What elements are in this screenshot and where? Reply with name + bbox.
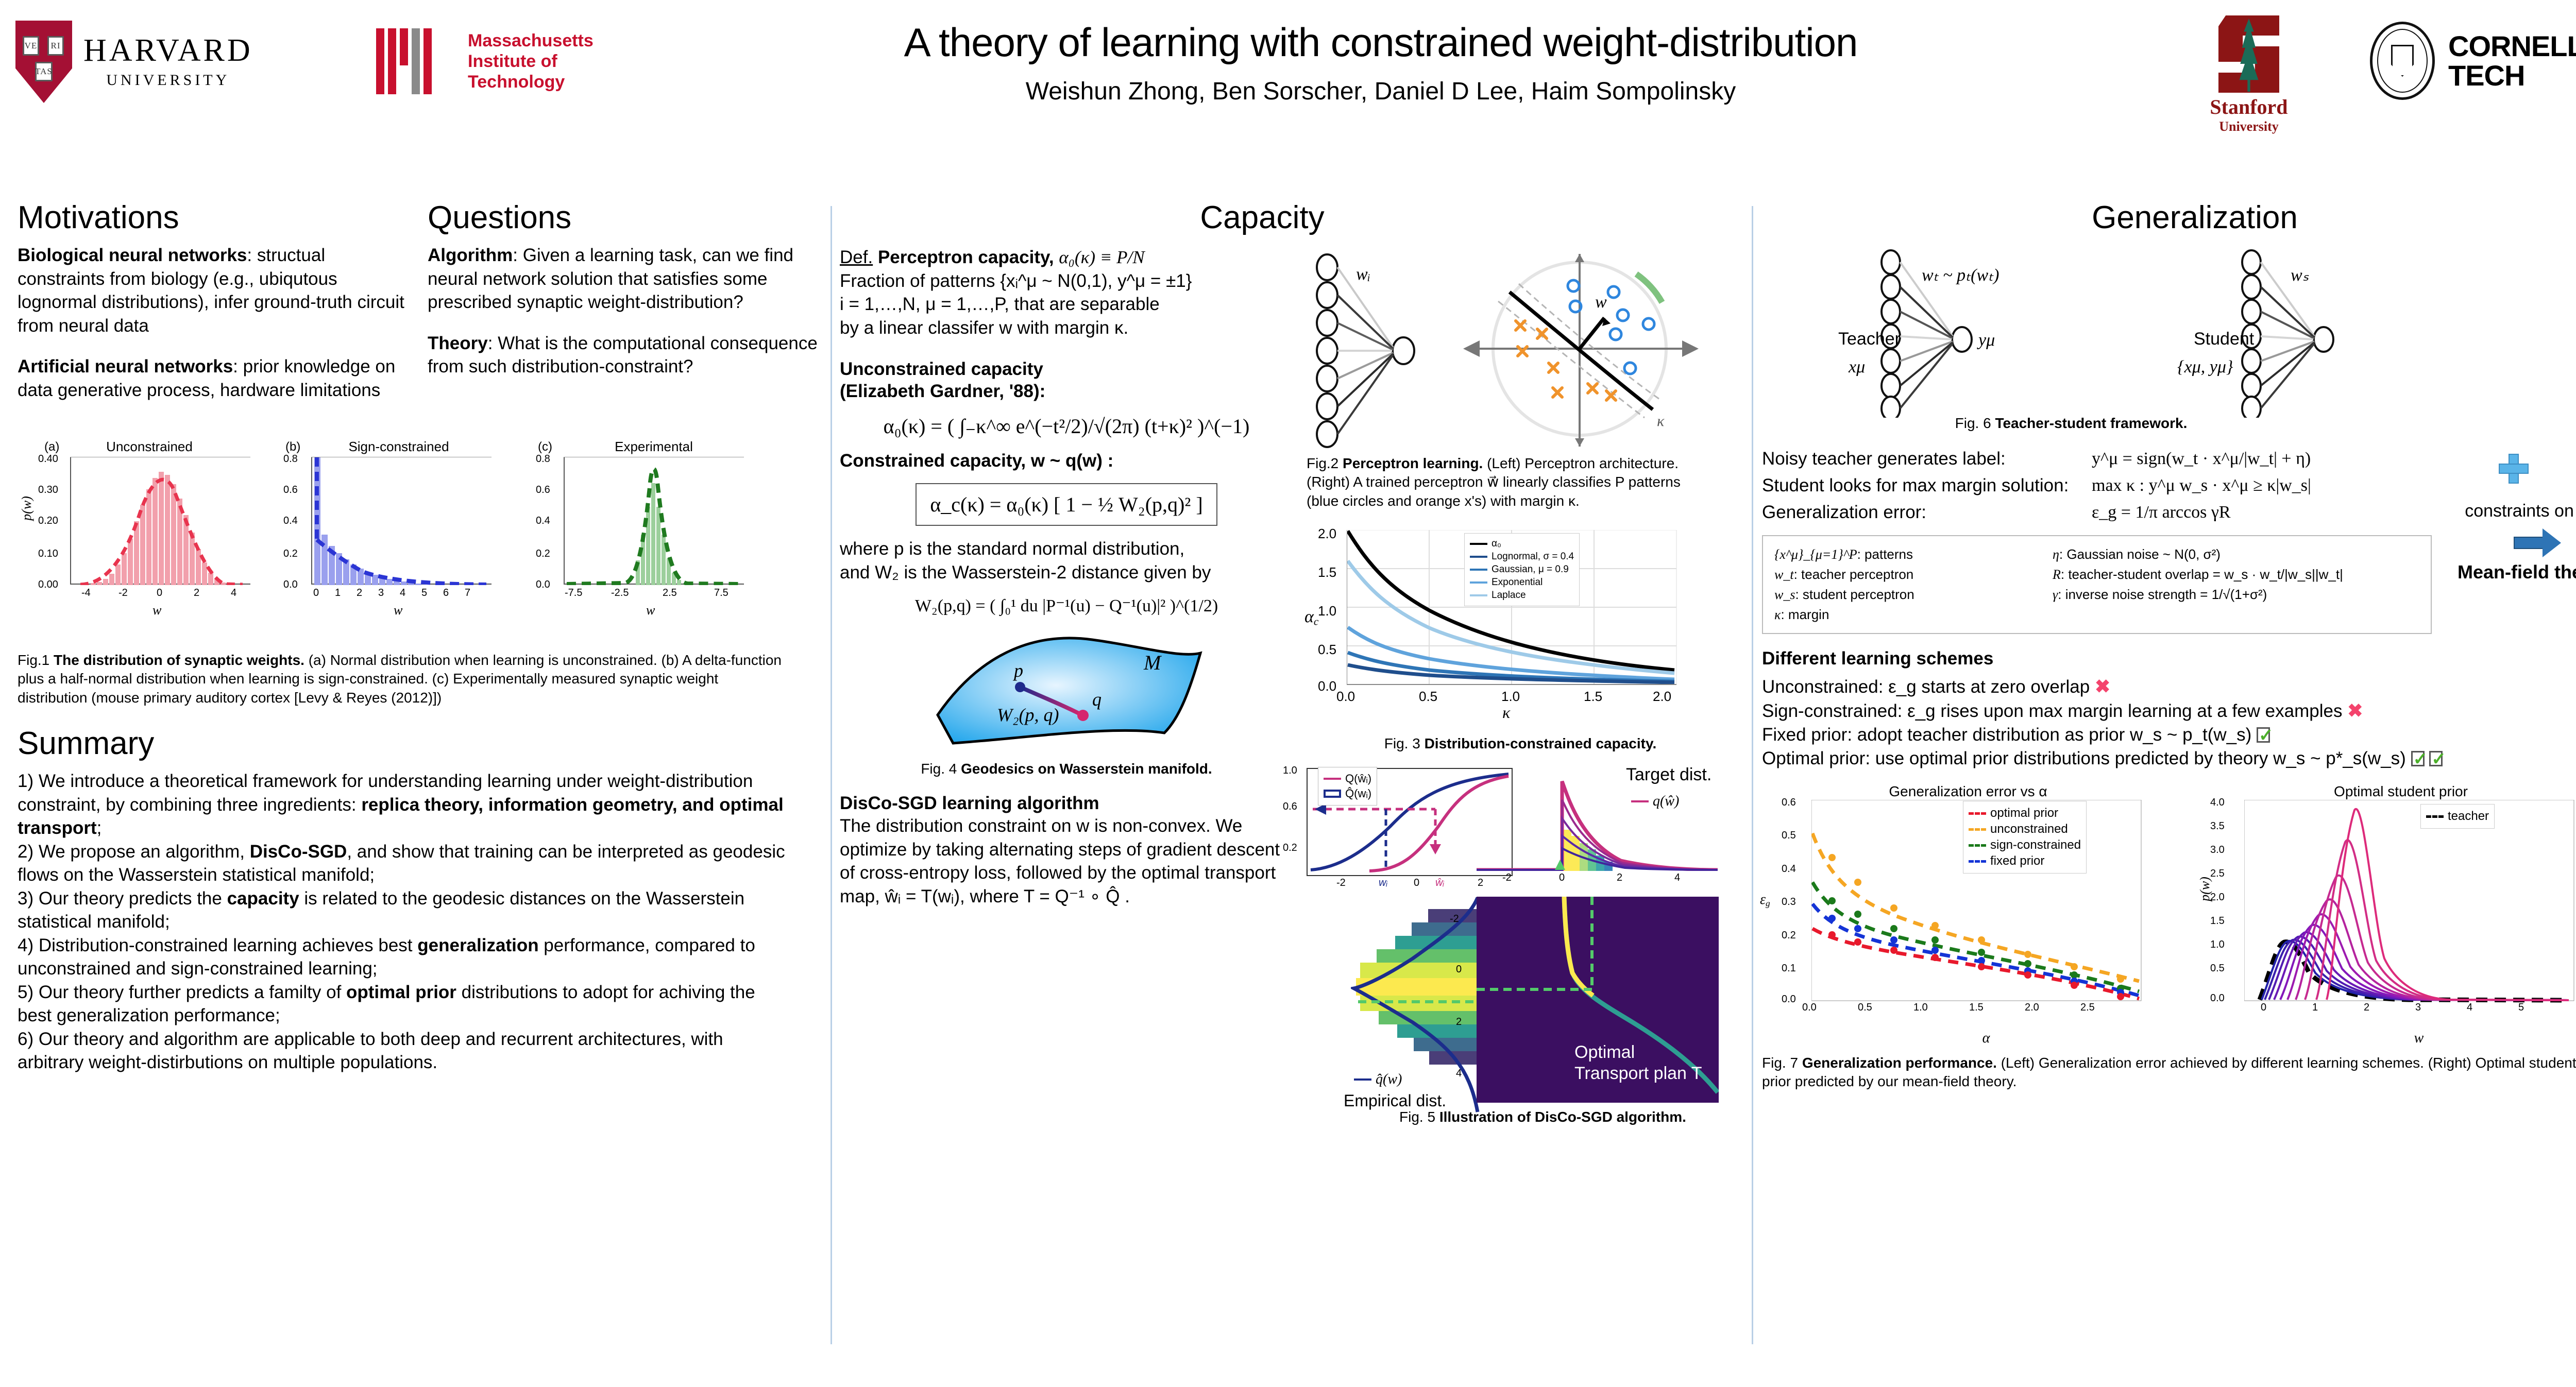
fig1a-ytick: 0.20 — [38, 515, 58, 527]
fig7-legend-item: unconstrained — [1969, 822, 2081, 836]
stanford-wordmark: Stanford — [2195, 95, 2303, 119]
fig7l-ytick: 0.6 — [1782, 797, 1796, 809]
fig6-teacher-output: yμ — [1977, 331, 1995, 350]
fig1-panel-c-tag: (c) — [538, 440, 552, 454]
fig2-graphic: wᵢ — [1307, 246, 1724, 452]
fig7-right-svg — [2244, 800, 2576, 1016]
fig1c-ytick: 0.8 — [536, 453, 550, 465]
capacity-def-line3: i = 1,…,N, μ = 1,…,P, that are separable — [840, 293, 1293, 316]
scheme-row: Fixed prior: adopt teacher distribution … — [1762, 723, 2576, 747]
right-arrow-icon — [2514, 528, 2561, 557]
fig5-side-ytick: 4 — [1456, 1068, 1462, 1080]
fig7r-ytick: 3.5 — [2210, 820, 2225, 832]
fig7r-xtick: 5 — [2518, 1002, 2524, 1014]
capacity-definition: Def. Perceptron capacity, α₀(κ) ≡ P/N — [840, 246, 1293, 269]
fig7-right-xlabel: w — [2231, 1030, 2576, 1047]
fig1-panel-a-tag: (a) — [44, 440, 59, 454]
fig1a-xtick: -4 — [81, 587, 91, 599]
fig3-xtick: 1.0 — [1501, 689, 1520, 705]
fig5-top-xtick: 2 — [1617, 872, 1622, 884]
fig7r-xtick: 4 — [2467, 1002, 2472, 1014]
generalization-heading: Generalization — [1762, 201, 2576, 234]
fig3-legend-item: Gaussian, μ = 0.9 — [1470, 564, 1574, 575]
definition-row: κ: margin — [1774, 605, 2022, 625]
motivations-section: Motivations Biological neural networks: … — [18, 201, 411, 402]
fig1c-ytick: 0.4 — [536, 515, 550, 527]
fig3-ytick: 2.0 — [1318, 526, 1336, 542]
fig1b-ytick: 0.8 — [283, 453, 298, 465]
fig6-teacher-weights: wₜ ~ pₜ(wₜ) — [1922, 266, 1999, 285]
harvard-book-ve: VE — [23, 36, 39, 56]
fig7r-xtick: 3 — [2415, 1002, 2421, 1014]
mean-field-text: Mean-field theory! — [2447, 561, 2576, 583]
fig2-label-wi: wᵢ — [1356, 265, 1370, 284]
summary-item: 3) Our theory predicts the capacity is r… — [18, 887, 790, 934]
constrained-capacity-equation: α_c(κ) = α₀(κ) [ 1 − ½ W₂(p,q)² ] — [916, 483, 1217, 526]
gen-error-label: Generalization error: — [1762, 499, 2092, 526]
check-icon — [2429, 751, 2443, 766]
fig5-target-label: Target dist. — [1626, 765, 1711, 785]
gen-error-equation: ε_g = 1/π arccos γR — [2092, 499, 2432, 526]
fig7l-ytick: 0.1 — [1782, 963, 1796, 974]
fig3-legend-item: Exponential — [1470, 577, 1574, 588]
fig1b-xtick: 1 — [335, 587, 341, 599]
fig7r-ytick: 2.5 — [2210, 868, 2225, 880]
fig3-legend-item: α₀ — [1470, 538, 1574, 550]
fig1-panel-a-plot: 0.40 0.30 0.20 0.10 0.00 -4 -2 0 2 4 w — [70, 457, 250, 585]
fig7r-ytick: 0.5 — [2210, 963, 2225, 974]
questions-heading: Questions — [428, 201, 821, 234]
fig1a-ytick: 0.00 — [38, 579, 58, 591]
learning-schemes-section: Different learning schemes Unconstrained… — [1762, 647, 2576, 770]
page-title: A theory of learning with constrained we… — [685, 21, 2076, 64]
questions-paragraph-1: Algorithm: Given a learning task, can we… — [428, 244, 821, 314]
column-divider-2 — [1752, 206, 1753, 1344]
gardner-equation: α₀(κ) = ( ∫₋κ^∞ e^(−t²/2)/√(2π) (t+κ)² )… — [840, 414, 1293, 438]
definition-row: R: teacher-student overlap = w_s · w_t/|… — [2053, 564, 2419, 585]
max-margin-label: Student looks for max margin solution: — [1762, 472, 2092, 499]
middle-column: Capacity Def. Perceptron capacity, α₀(κ)… — [840, 201, 1747, 1128]
definition-row: {x^μ}_{μ=1}^P: patterns — [1774, 544, 2022, 564]
fig7l-xtick: 2.5 — [2080, 1002, 2095, 1014]
disco-sgd-body: The distribution constraint on w is non-… — [840, 814, 1293, 908]
cornell-seal-icon — [2370, 22, 2435, 100]
fig5-legend-item: Q̂(wᵢ) — [1324, 787, 1371, 800]
fig4-caption: Fig. 4 Geodesics on Wasserstein manifold… — [840, 760, 1293, 778]
mit-mark-icon — [376, 28, 457, 94]
harvard-logo: VE RI TAS HARVARD UNIVERSITY — [15, 15, 325, 108]
fig3-ytick: 1.5 — [1318, 564, 1336, 580]
fig3-ytick: 1.0 — [1318, 603, 1336, 619]
fig1a-ytick: 0.10 — [38, 548, 58, 560]
fig1a-ytick: 0.40 — [38, 453, 58, 465]
unconstrained-capacity-heading-2: (Elizabeth Gardner, '88): — [840, 380, 1293, 402]
fig1b-xtick: 3 — [378, 587, 384, 599]
fig7-left-ylabel: εg — [1760, 892, 1770, 909]
motivations-paragraph-2: Artificial neural networks: prior knowle… — [18, 355, 411, 402]
fig7l-ytick: 0.2 — [1782, 930, 1796, 941]
fig1c-xtick: 7.5 — [714, 587, 728, 599]
harvard-book-tas: TAS — [35, 62, 53, 81]
fig5-caption: Fig. 5 Illustration of DisCo-SGD algorit… — [1399, 1108, 1686, 1126]
plus-icon — [2499, 454, 2529, 484]
fig5-top-xtick: 0 — [1559, 872, 1565, 884]
motivations-paragraph-1: Biological neural networks: structual co… — [18, 244, 411, 337]
fig1b-xtick: 0 — [313, 587, 319, 599]
constraints-text: constraints on w_s — [2447, 501, 2576, 521]
fig7l-xtick: 0.5 — [1858, 1002, 1872, 1014]
summary-section: Summary 1) We introduce a theoretical fr… — [18, 727, 821, 1074]
summary-heading: Summary — [18, 727, 821, 760]
fig7l-xtick: 2.0 — [2025, 1002, 2039, 1014]
fig1b-xtick: 4 — [400, 587, 405, 599]
fig4-label-M: M — [1143, 651, 1162, 674]
fig1-panel-b-tag: (b) — [285, 440, 300, 454]
mit-logo: Massachusetts Institute of Technology — [376, 23, 665, 100]
fig7l-ytick: 0.4 — [1782, 863, 1796, 875]
fig3-xtick: 0.0 — [1336, 689, 1355, 705]
fig1a-xtick: 0 — [157, 587, 162, 599]
fig5-side-ytick: -2 — [1450, 913, 1459, 925]
fig1-panel-b-title: Sign-constrained — [285, 439, 512, 455]
fig7-left-xlabel: α — [1798, 1030, 2174, 1047]
poster-header: VE RI TAS HARVARD UNIVERSITY Massachuset… — [0, 0, 2576, 185]
harvard-book-ri: RI — [47, 36, 64, 56]
summary-item: 4) Distribution-constrained learning ach… — [18, 934, 790, 981]
fig1c-xtick: -7.5 — [565, 587, 582, 599]
cornell-wordmark: CORNELL TECH — [2448, 31, 2576, 90]
fig7-left-legend: optimal prior unconstrained sign-constra… — [1963, 801, 2087, 874]
scheme-row: Optimal prior: use optimal prior distrib… — [1762, 747, 2576, 770]
capacity-text-block: Def. Perceptron capacity, α₀(κ) ≡ P/N Fr… — [840, 246, 1293, 1128]
fig7r-ytick: 3.0 — [2210, 844, 2225, 856]
definition-row: η: Gaussian noise ~ N(0, σ²) — [2053, 544, 2419, 564]
fig7r-xtick: 2 — [2364, 1002, 2369, 1014]
right-column: Generalization Teacher xμ w — [1762, 201, 2576, 1091]
fig7r-ytick: 0.0 — [2210, 992, 2225, 1004]
fig7-right-plot: Optimal student prior p(w) teacher 4.0 — [2195, 783, 2576, 1047]
fig6-teacher-input: xμ — [1848, 357, 1865, 376]
stanford-subwordmark: University — [2195, 119, 2303, 134]
x-icon: ✖ — [2347, 700, 2363, 721]
fig6-student-weights: wₛ — [2291, 266, 2309, 285]
fig3-legend: α₀ Lognormal, σ = 0.4 Gaussian, μ = 0.9 … — [1464, 533, 1580, 606]
fig7r-ytick: 2.0 — [2210, 892, 2225, 903]
fig1b-ytick: 0.4 — [283, 515, 298, 527]
fig1-panel-b-plot: 0.8 0.6 0.4 0.2 0.0 0 1 2 3 4 5 6 7 w — [311, 457, 492, 585]
fig5-cdf-xlabel-wi: wᵢ — [1379, 877, 1387, 889]
fig1a-ytick: 0.30 — [38, 484, 58, 496]
fig7r-legend-item: teacher — [2426, 809, 2489, 824]
summary-item: 6) Our theory and algorithm are applicab… — [18, 1028, 790, 1074]
fig1b-xtick: 5 — [421, 587, 427, 599]
fig7r-ytick: 4.0 — [2210, 797, 2225, 809]
fig4-manifold-graphic: p q M W₂(p, q) — [922, 627, 1211, 756]
fig7l-xtick: 0.0 — [1802, 1002, 1817, 1014]
fig1-caption: Fig.1 The distribution of synaptic weigh… — [18, 651, 790, 707]
fig3-legend-item: Laplace — [1470, 590, 1574, 601]
motivations-heading: Motivations — [18, 201, 411, 234]
fig1-panel-a-title: Unconstrained — [41, 439, 258, 455]
fig5-cdf-ytick: 1.0 — [1283, 765, 1297, 777]
fig7l-xtick: 1.5 — [1969, 1002, 1984, 1014]
mit-wordmark: Massachusetts Institute of Technology — [468, 30, 594, 92]
fig1a-xlabel: w — [152, 603, 161, 618]
fig5-cdf-ytick: 0.6 — [1283, 801, 1297, 813]
fig7-legend-item: sign-constrained — [1969, 838, 2081, 852]
fig5-cdf-xtick: -2 — [1336, 877, 1346, 889]
stanford-tree-icon — [2218, 15, 2279, 93]
figure-7: Generalization error vs α εg — [1762, 783, 2576, 1047]
left-column: Motivations Biological neural networks: … — [18, 201, 821, 1074]
fig1b-ytick: 0.0 — [283, 579, 298, 591]
fig3-ylabel: αc — [1304, 607, 1318, 628]
scheme-row: Unconstrained: ε_g starts at zero overla… — [1762, 675, 2576, 699]
fig5-transport-plan: Optimal Transport plan T -2 0 2 4 — [1477, 897, 1719, 1103]
definition-row: w_s: student perceptron — [1774, 585, 2022, 605]
fig7l-ytick: 0.5 — [1782, 830, 1796, 842]
stanford-logo: Stanford University — [2195, 15, 2303, 134]
figure-1: p(w) (a) Unconstrained — [18, 439, 821, 614]
fig5-target-dist: Target dist. q(ŵ) -2 0 2 4 — [1477, 768, 1719, 886]
fig7l-xtick: 1.0 — [1913, 1002, 1928, 1014]
harvard-shield-icon: VE RI TAS — [15, 21, 72, 103]
fig1b-ytick: 0.6 — [283, 484, 298, 496]
fig4-label-q: q — [1092, 689, 1101, 710]
fig7r-ytick: 1.5 — [2210, 915, 2225, 927]
fig7r-xtick: 0 — [2261, 1002, 2266, 1014]
fig6-student-label: Student — [2194, 329, 2255, 349]
definitions-box: {x^μ}_{μ=1}^P: patterns w_t: teacher per… — [1762, 535, 2432, 634]
fig1c-xtick: -2.5 — [611, 587, 629, 599]
capacity-def-line2: Fraction of patterns {xᵢ^μ ~ N(0,1), y^μ… — [840, 269, 1293, 293]
fig7l-ytick: 0.3 — [1782, 896, 1796, 908]
fig3-legend-item: Lognormal, σ = 0.4 — [1470, 551, 1574, 562]
fig5-empirical-dist: q̂(w) Empirical dist. — [1351, 897, 1480, 1113]
capacity-figures-block: wᵢ — [1307, 246, 1734, 1128]
fig3-xtick: 1.5 — [1584, 689, 1602, 705]
fig1-panel-c-title: Experimental — [538, 439, 770, 455]
fig3-caption: Fig. 3 Distribution-constrained capacity… — [1307, 734, 1734, 753]
figure-5: Q(ŵᵢ) Q̂(wᵢ) 1.0 0.6 0.2 -2 0 2 wᵢ ŵᵢ — [1307, 768, 1734, 1128]
fig4-label-p: p — [1012, 660, 1023, 681]
fig5-side-ytick: 2 — [1456, 1016, 1462, 1028]
fig4-label-w2: W₂(p, q) — [997, 705, 1059, 725]
questions-paragraph-2: Theory: What is the computational conseq… — [428, 332, 821, 379]
generalization-equations: Noisy teacher generates label: y^μ = sig… — [1762, 446, 2576, 634]
fig5-cdf-xlabel-whati: ŵᵢ — [1435, 877, 1444, 889]
fig1c-xtick: 2.5 — [663, 587, 677, 599]
x-icon: ✖ — [2095, 676, 2110, 697]
fig1c-xlabel: w — [646, 603, 655, 618]
max-margin-equation: max κ : y^μ w_s · x^μ ≥ κ|w_s| — [2092, 472, 2432, 499]
figure-4: p q M W₂(p, q) Fig. 4 Geodesics on Wasse… — [840, 627, 1293, 778]
questions-section: Questions Algorithm: Given a learning ta… — [428, 201, 821, 402]
summary-item: 1) We introduce a theoretical framework … — [18, 769, 790, 840]
unconstrained-capacity-heading-1: Unconstrained capacity — [840, 358, 1293, 380]
fig5-cdf-xtick: 0 — [1414, 877, 1419, 889]
fig3-ytick: 0.5 — [1318, 642, 1336, 658]
check-icon — [2411, 751, 2425, 766]
fig3-xtick: 2.0 — [1653, 689, 1671, 705]
figure-6: Teacher xμ wₜ ~ pₜ(wₜ) yμ Studen — [1762, 248, 2576, 438]
fig1b-xtick: 2 — [357, 587, 362, 599]
check-icon — [2257, 727, 2270, 743]
fig3-xtick: 0.5 — [1419, 689, 1437, 705]
definition-row: γ: inverse noise strength = 1/√(1+σ²) — [2053, 585, 2419, 605]
fig6-teacher-label: Teacher — [1838, 329, 1901, 349]
scheme-row: Sign-constrained: ε_g rises upon max mar… — [1762, 699, 2576, 723]
fig6-student-input: {xμ, yμ} — [2177, 357, 2233, 376]
constrained-capacity-heading: Constrained capacity, w ~ q(w) : — [840, 450, 1293, 472]
noisy-teacher-label: Noisy teacher generates label: — [1762, 446, 2092, 472]
definition-row: w_t: teacher perceptron — [1774, 564, 2022, 585]
fig1b-xtick: 7 — [465, 587, 470, 599]
fig3-ytick: 0.0 — [1318, 678, 1336, 694]
fig7-legend-item: fixed prior — [1969, 854, 2081, 868]
fig5-legend-item: Q(ŵᵢ) — [1324, 772, 1371, 785]
figure-3: αc 2.0 — [1307, 530, 1734, 753]
harvard-wordmark: HARVARD — [83, 35, 253, 66]
fig5-cdf-legend: Q(ŵᵢ) Q̂(wᵢ) — [1318, 767, 1377, 806]
schemes-heading: Different learning schemes — [1762, 647, 2576, 670]
fig5-side-ytick: 0 — [1456, 964, 1462, 975]
fig7r-xtick: 1 — [2312, 1002, 2318, 1014]
capacity-def-line4: by a linear classifer w with margin κ. — [840, 316, 1293, 340]
fig5-top-xtick: -2 — [1502, 872, 1512, 884]
fig7-left-plot: Generalization error vs α εg — [1762, 783, 2174, 1047]
fig1c-ytick: 0.2 — [536, 548, 550, 560]
fig7r-ytick: 1.0 — [2210, 939, 2225, 951]
fig5-cdf-ytick: 0.2 — [1283, 842, 1297, 854]
fig5-top-xtick: 4 — [1674, 872, 1680, 884]
summary-item: 5) Our theory further predicts a familty… — [18, 981, 790, 1028]
fig7-right-title: Optimal student prior — [2195, 783, 2576, 800]
capacity-heading: Capacity — [778, 201, 1747, 234]
wasserstein-note-2: and W₂ is the Wasserstein-2 distance giv… — [840, 561, 1293, 585]
constraints-callout: constraints on w_s Mean-field theory! — [2447, 501, 2576, 583]
fig5-target-legend: q(ŵ) — [1626, 789, 1684, 814]
fig7-legend-item: optimal prior — [1969, 806, 2081, 820]
fig7-caption: Fig. 7 Generalization performance. (Left… — [1762, 1054, 2576, 1091]
fig7l-ytick: 0.0 — [1782, 994, 1796, 1005]
fig2-label-kappa: κ — [1657, 413, 1665, 430]
harvard-subwordmark: UNIVERSITY — [106, 72, 230, 89]
figure-2: wᵢ — [1307, 246, 1734, 510]
fig1b-xlabel: w — [394, 603, 402, 618]
summary-item: 2) We propose an algorithm, DisCo-SGD, a… — [18, 840, 790, 887]
disco-sgd-heading: DisCo-SGD learning algorithm — [840, 792, 1293, 814]
wasserstein-equation: W₂(p,q) = ( ∫₀¹ du |P⁻¹(u) − Q⁻¹(u)|² )^… — [840, 595, 1293, 616]
fig6-graphic: Teacher xμ wₜ ~ pₜ(wₜ) yμ Studen — [1762, 248, 2576, 418]
column-divider-1 — [831, 206, 832, 1344]
fig5-empirical-legend: q̂(w) — [1349, 1067, 1407, 1092]
fig1a-xtick: 2 — [194, 587, 199, 599]
noisy-teacher-equation: y^μ = sign(w_t · x^μ/|w_t| + η) — [2092, 446, 2432, 472]
fig1c-ytick: 0.6 — [536, 484, 550, 496]
cornell-tech-logo: CORNELL TECH — [2370, 22, 2576, 100]
fig1-ylabel: p(w) — [19, 496, 35, 521]
fig1b-ytick: 0.2 — [283, 548, 298, 560]
fig1a-xtick: 4 — [231, 587, 236, 599]
fig1-panel-c-plot: 0.8 0.6 0.4 0.2 0.0 -7.5 -2.5 2.5 7.5 w — [564, 457, 744, 585]
fig1b-xtick: 6 — [443, 587, 449, 599]
summary-list: 1) We introduce a theoretical framework … — [18, 769, 790, 1074]
author-list: Weishun Zhong, Ben Sorscher, Daniel D Le… — [685, 77, 2076, 106]
fig7-left-title: Generalization error vs α — [1762, 783, 2174, 800]
fig2-caption: Fig.2 Perceptron learning. (Left) Percep… — [1307, 454, 1714, 510]
fig1a-xtick: -2 — [118, 587, 128, 599]
fig3-xlabel: κ — [1502, 703, 1510, 722]
fig5-transport-caption: Optimal Transport plan T — [1574, 1042, 1702, 1085]
fig1c-ytick: 0.0 — [536, 579, 550, 591]
wasserstein-note-1: where p is the standard normal distribut… — [840, 537, 1293, 561]
fig7-right-legend: teacher — [2420, 804, 2495, 829]
